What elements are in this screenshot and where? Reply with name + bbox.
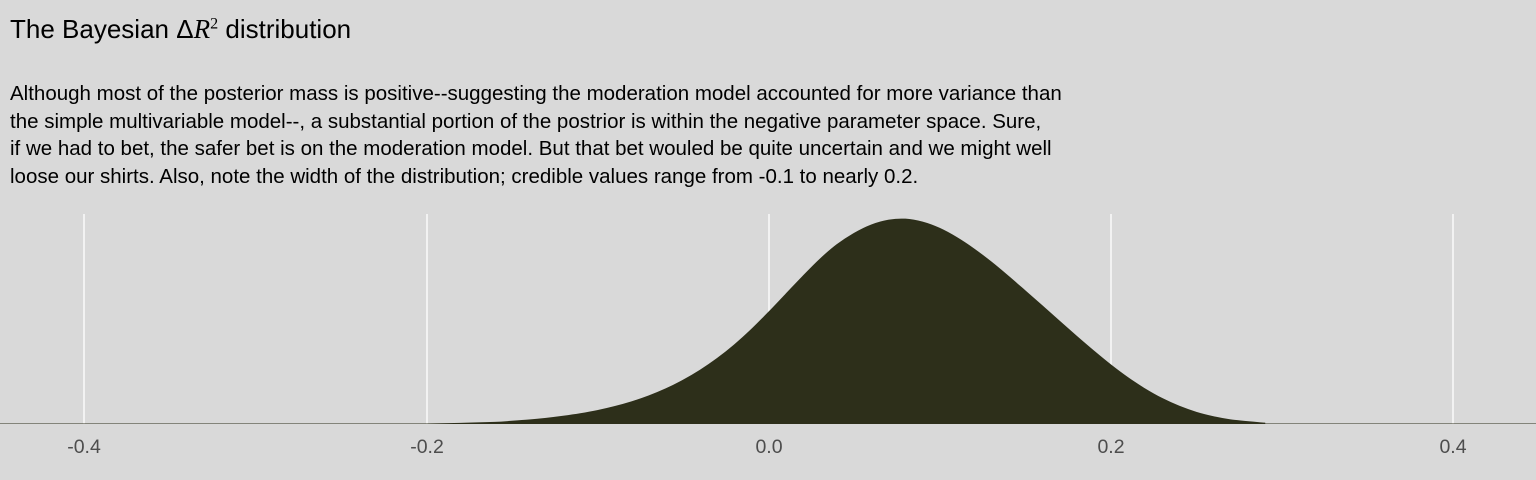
x-axis-labels: -0.4-0.20.00.20.4 (0, 434, 1536, 474)
title-r-symbol: R (194, 14, 211, 44)
x-axis-label-0.4: 0.4 (1439, 434, 1466, 460)
density-area-series (0, 214, 1536, 424)
x-axis-ticks (0, 424, 1536, 434)
tick-mark-0.4 (1452, 424, 1454, 433)
x-axis-label-0.2: 0.2 (1097, 434, 1124, 460)
density-curve-path (0, 219, 1536, 424)
x-axis-label--0.4: -0.4 (67, 434, 101, 460)
tick-mark-0.2 (1110, 424, 1112, 433)
tick-mark--0.4 (83, 424, 85, 433)
x-axis-label-0.0: 0.0 (755, 434, 782, 460)
title-suffix: distribution (218, 14, 351, 44)
title-exponent: 2 (210, 15, 218, 32)
chart-panel (0, 214, 1536, 424)
tick-mark-0.0 (768, 424, 770, 433)
subtitle-line-3: if we had to bet, the safer bet is on th… (10, 135, 1530, 163)
page-subtitle: Although most of the posterior mass is p… (10, 80, 1530, 190)
tick-mark--0.2 (426, 424, 428, 433)
plot-root: The Bayesian ΔR2 distribution Although m… (0, 0, 1536, 480)
x-axis-label--0.2: -0.2 (410, 434, 444, 460)
title-prefix: The Bayesian (10, 14, 176, 44)
title-delta-symbol: Δ (176, 14, 193, 44)
subtitle-line-4: loose our shirts. Also, note the width o… (10, 163, 1530, 191)
subtitle-line-2: the simple multivariable model--, a subs… (10, 108, 1530, 136)
page-title: The Bayesian ΔR2 distribution (10, 14, 351, 44)
subtitle-line-1: Although most of the posterior mass is p… (10, 80, 1530, 108)
